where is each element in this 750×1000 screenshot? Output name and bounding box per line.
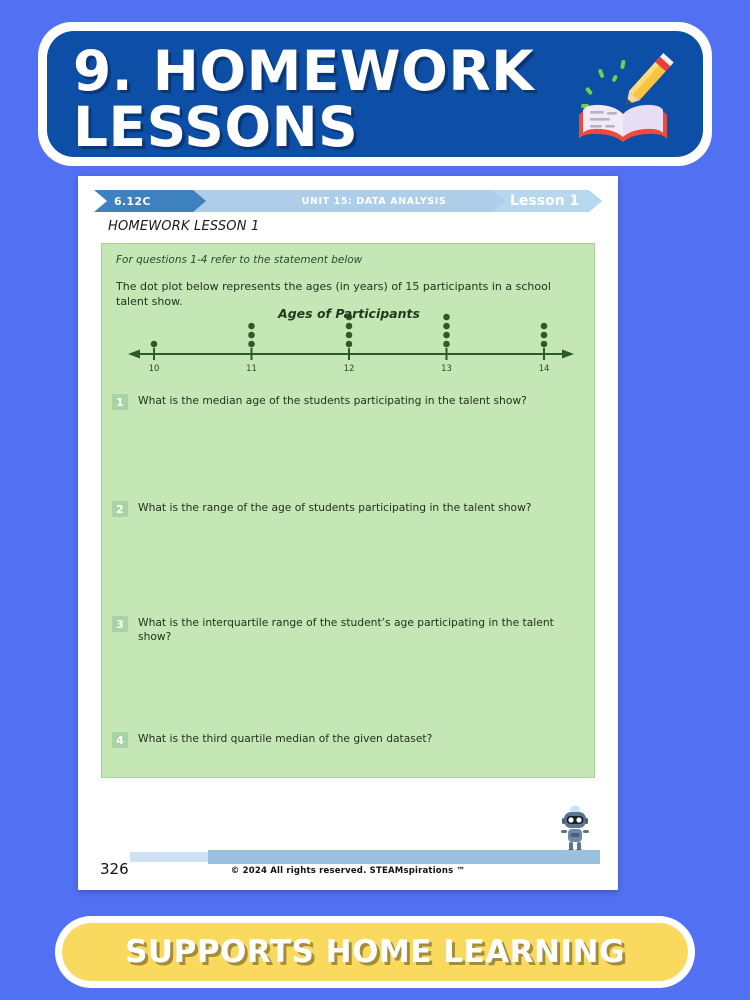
svg-text:12: 12 bbox=[344, 364, 355, 374]
dot-plot-chart: Ages of Participants 1011121314 bbox=[116, 306, 582, 374]
svg-text:13: 13 bbox=[441, 364, 452, 374]
question-number-3: 3 bbox=[112, 616, 128, 632]
page-title: 9. HOMEWORK LESSONS bbox=[73, 43, 534, 155]
question-number-4: 4 bbox=[112, 732, 128, 748]
question-text-2: What is the range of the age of students… bbox=[138, 501, 578, 515]
robot-mascot-icon bbox=[558, 804, 592, 854]
page-title-line1: 9. HOMEWORK bbox=[73, 39, 534, 103]
bottom-banner-inner: SUPPORTS HOME LEARNING bbox=[62, 923, 688, 981]
copyright-text: © 2024 All rights reserved. STEAMspirati… bbox=[78, 866, 618, 876]
question-text-1: What is the median age of the students p… bbox=[138, 394, 578, 408]
svg-text:10: 10 bbox=[149, 364, 160, 374]
homework-lesson-label: HOMEWORK LESSON 1 bbox=[108, 219, 259, 234]
ribbon-tail bbox=[130, 852, 210, 862]
breadcrumb: 6.12C UNIT 15: DATA ANALYSIS Lesson 1 bbox=[94, 190, 602, 212]
teks-code-badge: 6.12C bbox=[94, 190, 206, 212]
book-with-pencil-icon bbox=[569, 49, 677, 157]
svg-text:11: 11 bbox=[246, 364, 257, 374]
question-text-3: What is the interquartile range of the s… bbox=[138, 616, 578, 644]
chart-title: Ages of Participants bbox=[116, 306, 582, 321]
footer-ribbon bbox=[130, 850, 600, 864]
ribbon-body bbox=[208, 850, 600, 864]
worksheet-page: 6.12C UNIT 15: DATA ANALYSIS Lesson 1 HO… bbox=[78, 176, 618, 890]
top-title-banner: 9. HOMEWORK LESSONS bbox=[38, 22, 712, 166]
question-panel: For questions 1-4 refer to the statement… bbox=[101, 243, 595, 778]
bottom-banner: SUPPORTS HOME LEARNING bbox=[55, 916, 695, 988]
top-banner-inner: 9. HOMEWORK LESSONS bbox=[47, 31, 703, 157]
lesson-badge: Lesson 1 bbox=[492, 190, 602, 212]
page-title-line2: LESSONS bbox=[73, 95, 358, 157]
statement-intro: For questions 1-4 refer to the statement… bbox=[116, 254, 576, 266]
question-number-1: 1 bbox=[112, 394, 128, 410]
unit-label: UNIT 15: DATA ANALYSIS bbox=[244, 190, 504, 212]
svg-text:14: 14 bbox=[539, 364, 550, 374]
statement-body: The dot plot below represents the ages (… bbox=[116, 279, 571, 309]
question-text-4: What is the third quartile median of the… bbox=[138, 732, 578, 746]
question-number-2: 2 bbox=[112, 501, 128, 517]
bottom-banner-text: SUPPORTS HOME LEARNING bbox=[125, 934, 625, 970]
